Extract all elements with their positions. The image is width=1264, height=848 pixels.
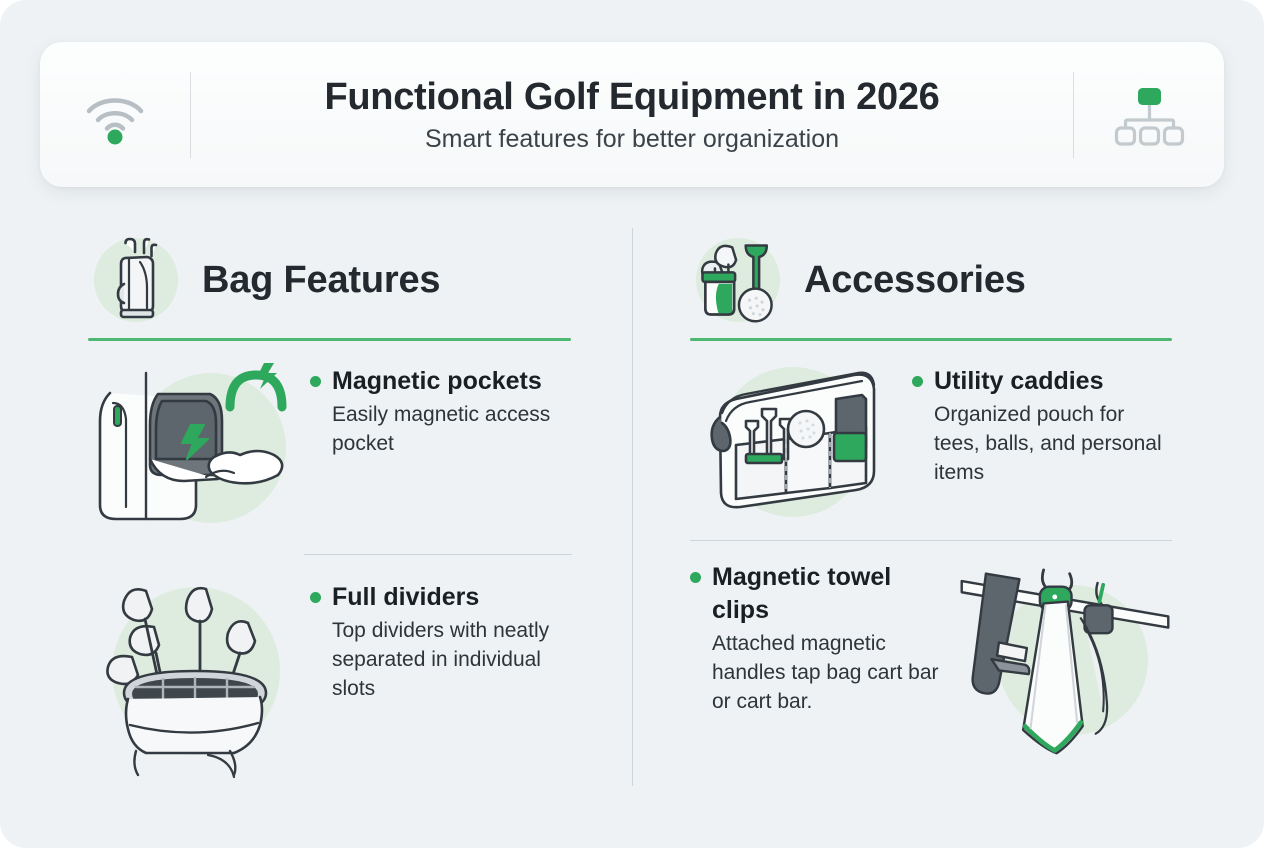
feature-title: Utility caddies	[934, 365, 1104, 398]
feature-text-block: Magnetic pockets Easily magnetic access …	[310, 359, 574, 459]
section-header-bag-features: Bag Features	[88, 226, 574, 334]
page-title: Functional Golf Equipment in 2026	[324, 75, 939, 120]
page-subtitle: Smart features for better organization	[425, 124, 839, 154]
section-underline	[88, 338, 571, 341]
golf-bag-with-clubs-icon	[88, 232, 184, 328]
hierarchy-sitemap-icon	[1111, 82, 1187, 148]
feature-item-utility-caddies: Utility caddies Organized pouch for tees…	[690, 359, 1172, 524]
feature-item-full-dividers: Full dividers Top dividers with neatly s…	[88, 575, 574, 780]
infographic-page: Functional Golf Equipment in 2026 Smart …	[0, 0, 1264, 848]
section-underline	[690, 338, 1172, 341]
feature-text-block: Utility caddies Organized pouch for tees…	[912, 359, 1172, 487]
zippered-utility-pouch-illustration	[690, 359, 904, 524]
feature-description: Attached magnetic handles tap bag cart b…	[690, 630, 946, 716]
header-card: Functional Golf Equipment in 2026 Smart …	[40, 42, 1224, 187]
bullet-dot-icon	[690, 572, 701, 583]
header-left-icon-slot	[40, 85, 190, 145]
column-accessories: Accessories	[632, 212, 1264, 832]
golf-bag-magnetic-pocket-with-hand-illustration	[88, 359, 302, 534]
bullet-dot-icon	[310, 592, 321, 603]
feature-text-block: Full dividers Top dividers with neatly s…	[310, 575, 574, 703]
column-bag-features: Bag Features	[0, 212, 632, 832]
feature-description: Easily magnetic access pocket	[310, 401, 574, 459]
feature-item-magnetic-towel-clips: Magnetic towel clips Attached magnetic h…	[690, 555, 1172, 770]
feature-description: Top dividers with neatly separated in in…	[310, 617, 574, 703]
bullet-dot-icon	[912, 376, 923, 387]
section-title: Bag Features	[202, 259, 440, 302]
feature-title: Full dividers	[332, 581, 479, 614]
wifi-signal-icon	[79, 85, 151, 145]
item-separator	[690, 540, 1172, 541]
feature-text-block: Magnetic towel clips Attached magnetic h…	[690, 555, 950, 716]
section-title: Accessories	[804, 259, 1026, 302]
golf-bag-top-dividers-illustration	[88, 575, 302, 780]
section-header-accessories: Accessories	[690, 226, 1172, 334]
header-right-icon-slot	[1074, 82, 1224, 148]
feature-item-magnetic-pockets: Magnetic pockets Easily magnetic access …	[88, 359, 574, 534]
columns-container: Bag Features	[0, 212, 1264, 832]
feature-description: Organized pouch for tees, balls, and per…	[912, 401, 1172, 487]
header-text-block: Functional Golf Equipment in 2026 Smart …	[191, 75, 1073, 154]
feature-title: Magnetic towel clips	[712, 561, 946, 627]
item-separator	[304, 554, 572, 555]
feature-title: Magnetic pockets	[332, 365, 542, 398]
towel-clipped-to-cart-bar-illustration	[958, 555, 1172, 770]
bullet-dot-icon	[310, 376, 321, 387]
golf-bag-tee-and-ball-icon	[690, 232, 786, 328]
